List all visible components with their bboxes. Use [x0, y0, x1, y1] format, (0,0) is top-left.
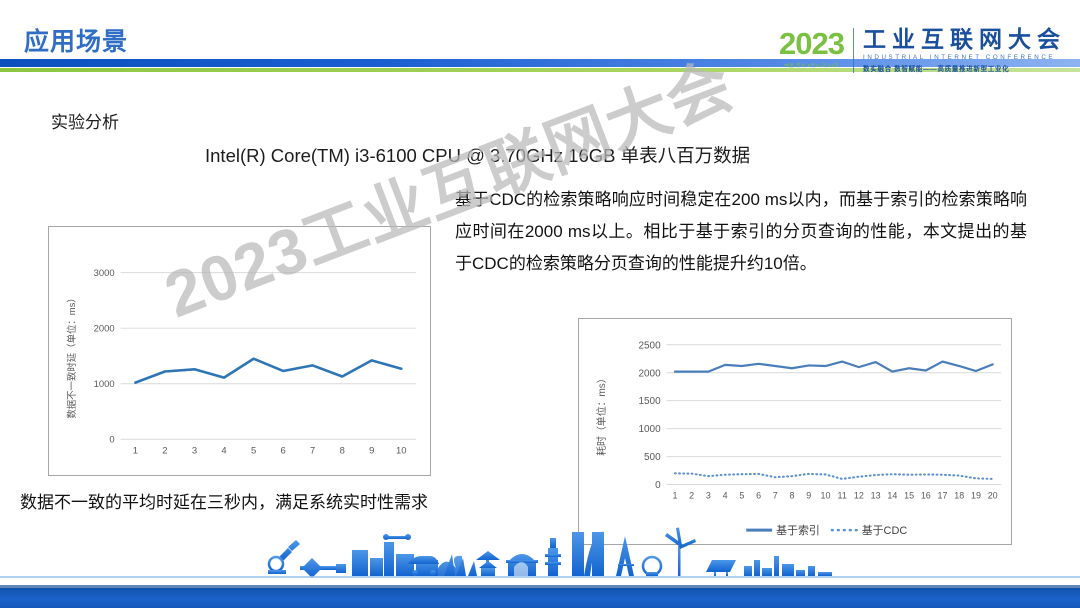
logo-divider: [853, 28, 854, 73]
svg-text:1500: 1500: [638, 396, 661, 407]
skyline-baseline: [0, 576, 1080, 578]
hardware-spec-line: Intel(R) Core(TM) i3-6100 CPU @ 3.70GHz …: [205, 142, 750, 168]
svg-text:18: 18: [954, 490, 964, 500]
analysis-paragraph: 基于CDC的检索策略响应时间稳定在200 ms以内，而基于索引的检索策略响应时间…: [455, 184, 1027, 280]
latency-compare-chart: 0500100015002000250012345678910111213141…: [578, 318, 1012, 545]
svg-text:17: 17: [938, 490, 948, 500]
skyline-decoration: [0, 520, 1080, 588]
bottom-caption: 数据不一致的平均时延在三秒内，满足系统实时性需求: [20, 488, 428, 513]
page-title: 应用场景: [24, 22, 128, 58]
svg-text:耗时（单位：ms）: 耗时（单位：ms）: [595, 373, 608, 456]
svg-text:10: 10: [820, 490, 830, 500]
svg-text:8: 8: [340, 445, 345, 456]
svg-text:1: 1: [672, 490, 677, 500]
svg-text:9: 9: [369, 445, 374, 456]
svg-text:12: 12: [854, 490, 864, 500]
svg-text:1000: 1000: [638, 424, 661, 435]
svg-text:19: 19: [971, 490, 981, 500]
svg-text:13: 13: [871, 490, 881, 500]
logo-slogan: 数实融合 数智赋能——高质量推进新型工业化: [863, 63, 1066, 73]
section-label: 实验分析: [51, 108, 119, 133]
svg-text:4: 4: [221, 445, 226, 456]
logo-name-en: INDUSTRIAL INTERNET CONFERENCE: [863, 54, 1066, 61]
svg-text:数据不一致时延（单位：ms）: 数据不一致时延（单位：ms）: [66, 293, 77, 418]
svg-text:9: 9: [806, 490, 811, 500]
svg-text:1000: 1000: [94, 378, 115, 389]
svg-text:3: 3: [192, 445, 197, 456]
svg-text:3: 3: [706, 490, 711, 500]
logo-year: 2023: [779, 28, 844, 59]
latency-compare-chart-canvas: 0500100015002000250012345678910111213141…: [579, 319, 1011, 544]
svg-text:2: 2: [689, 490, 694, 500]
delay-chart-canvas: 010002000300012345678910数据不一致时延（单位：ms）: [49, 227, 430, 475]
logo-name-cn: 工业互联网大会: [863, 28, 1066, 51]
svg-text:2: 2: [162, 445, 167, 456]
svg-text:10: 10: [396, 445, 406, 456]
logo-text-block: 工业互联网大会 INDUSTRIAL INTERNET CONFERENCE 数…: [863, 28, 1066, 73]
svg-text:15: 15: [904, 490, 914, 500]
svg-text:11: 11: [838, 490, 847, 500]
svg-text:2000: 2000: [94, 323, 115, 334]
svg-text:1: 1: [133, 445, 138, 456]
svg-text:7: 7: [773, 490, 778, 500]
logo-year-block: 2023 中国·苏州 8月11日-13日: [779, 28, 853, 69]
svg-text:16: 16: [921, 490, 931, 500]
svg-text:6: 6: [756, 490, 761, 500]
svg-text:5: 5: [251, 445, 256, 456]
svg-text:500: 500: [644, 452, 661, 463]
svg-text:20: 20: [988, 490, 998, 500]
svg-text:2500: 2500: [638, 340, 661, 351]
svg-text:4: 4: [723, 490, 728, 500]
svg-text:14: 14: [887, 490, 897, 500]
logo-year-subtitle: 中国·苏州 8月11日-13日: [779, 63, 844, 69]
svg-text:5: 5: [739, 490, 744, 500]
footer-band: [0, 588, 1080, 608]
svg-text:2000: 2000: [638, 368, 661, 379]
svg-text:3000: 3000: [94, 267, 115, 278]
svg-text:0: 0: [655, 480, 661, 491]
svg-text:7: 7: [310, 445, 315, 456]
svg-text:6: 6: [280, 445, 285, 456]
skyline-shapes: [268, 528, 832, 579]
svg-text:8: 8: [790, 490, 795, 500]
conference-logo: 2023 中国·苏州 8月11日-13日 工业互联网大会 INDUSTRIAL …: [779, 28, 1066, 73]
delay-chart: 010002000300012345678910数据不一致时延（单位：ms）: [48, 226, 431, 476]
svg-text:0: 0: [109, 434, 114, 445]
